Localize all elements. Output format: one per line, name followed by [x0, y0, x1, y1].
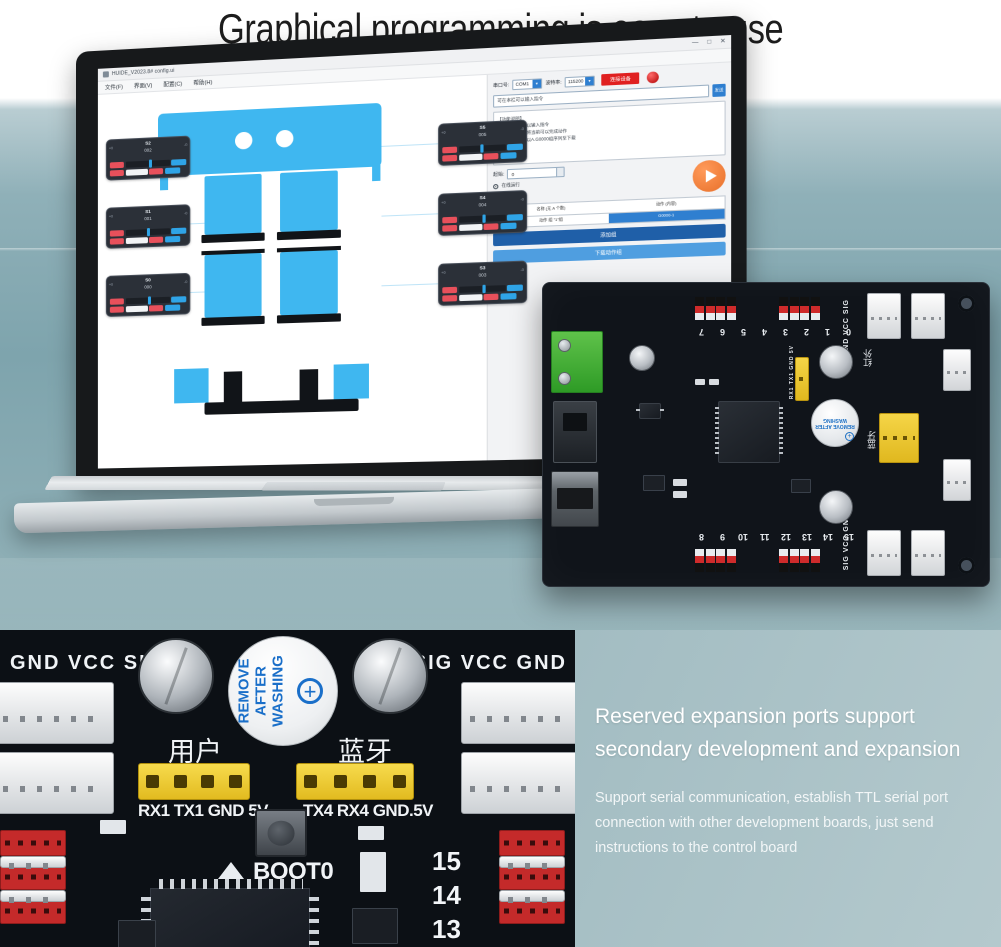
copy-heading: Reserved expansion ports support seconda…	[595, 700, 975, 766]
robot-foot-left	[205, 371, 262, 415]
window-controls: — □ ✕	[692, 38, 726, 46]
servo-pin	[727, 549, 736, 572]
pin-number-4: 4	[762, 327, 767, 337]
smd-ic-closeup-2	[352, 908, 398, 944]
servo-row-bottom	[110, 235, 186, 244]
robot-sole-right	[280, 399, 359, 413]
mcu-pins-right	[309, 897, 319, 947]
servo-row-bottom	[442, 222, 523, 231]
smd-resistor-1	[673, 479, 687, 486]
servo-pin	[800, 549, 809, 572]
robot-thigh-left	[205, 174, 262, 235]
connector-left-top	[0, 682, 114, 744]
servo-inc-button[interactable]	[507, 144, 523, 151]
silk-header-bt-pins: TX4 RX4 GND.5V	[303, 801, 433, 821]
servo-controls	[110, 296, 186, 312]
baud-select[interactable]: 115200 ▾	[565, 75, 595, 87]
robot-thigh-right	[280, 170, 338, 232]
control-board-main: 7 6 5 4 3 2 1 0 8 9 10 11 12 13 14 15	[542, 282, 990, 587]
baud-value: 115200	[568, 78, 583, 84]
robot-shin-left	[205, 253, 262, 318]
sensor-connector-4	[911, 530, 945, 576]
sensor-connector-2	[911, 293, 945, 339]
download-group-button[interactable]: 下载动作组	[493, 242, 726, 264]
app-icon	[103, 71, 109, 77]
servo-header-bank-bottom-left	[695, 549, 736, 572]
servo-inc-button[interactable]	[171, 296, 186, 303]
header-bluetooth-serial	[879, 413, 919, 463]
smd-ic-2	[791, 479, 811, 493]
servo-pin	[800, 297, 809, 320]
servo-header-bank-top-left	[695, 297, 736, 320]
pin-number-5: 5	[741, 327, 746, 337]
start-label: 起始:	[493, 171, 504, 178]
mcu-closeup	[150, 888, 310, 947]
pin-number-2: 2	[804, 327, 809, 337]
robot-ankle-joint-left	[201, 316, 264, 326]
menu-help[interactable]: 帮助(H)	[193, 78, 212, 87]
sensor-connector-1	[867, 293, 901, 339]
servo-slider[interactable]	[459, 285, 506, 293]
connector-right-top	[461, 682, 575, 744]
menu-config[interactable]: 配置(C)	[163, 79, 182, 88]
mcu-chip	[718, 401, 780, 463]
silk-label-ir: 红外	[861, 349, 874, 367]
servo-stop-button[interactable]	[484, 293, 499, 300]
pin-number-9: 9	[720, 532, 725, 542]
header-pads	[146, 770, 242, 793]
servo-stop-button[interactable]	[149, 168, 163, 175]
connect-device-button[interactable]: 连接设备	[601, 72, 639, 85]
stepper-arrows-icon[interactable]	[557, 168, 565, 177]
servo-white-right-1	[499, 856, 565, 868]
command-placeholder: 可在本栏可以输入指令	[497, 96, 543, 104]
servo-pin	[706, 297, 715, 320]
servo-pin	[695, 549, 704, 572]
servo-min: +0	[109, 283, 113, 287]
servo-controls	[442, 284, 523, 301]
servo-slider[interactable]	[459, 215, 506, 223]
port-label: 串口号:	[493, 82, 509, 89]
servo-dec-button[interactable]	[442, 147, 457, 154]
servo-reset-button[interactable]	[110, 169, 124, 176]
mounting-hole-tr	[958, 295, 975, 312]
robot-head	[158, 103, 381, 176]
servo-reset-button[interactable]	[442, 154, 457, 161]
servo-reset-button[interactable]	[110, 306, 124, 312]
servo-white-left-1	[0, 856, 66, 868]
action-table: 名称 (无 A 个数) 动作 (内容) 动作 组 "1"组 G0000-1	[493, 195, 726, 228]
mcu-pins-top	[159, 879, 303, 889]
pin-number-6: 6	[720, 327, 725, 337]
pin-number-10: 10	[738, 532, 748, 542]
port-value: COM1	[515, 81, 529, 87]
baud-label: 波特率:	[545, 79, 561, 86]
boot-button[interactable]	[255, 809, 307, 857]
servo-pin	[811, 297, 820, 320]
servo-widget-s0[interactable]: S0 000 +0 -0	[106, 273, 190, 317]
terminal-screw-top	[558, 339, 571, 352]
servo-pin	[695, 297, 704, 320]
buzzer-polarity-icon: +	[845, 432, 854, 441]
port-select[interactable]: COM1 ▾	[512, 78, 542, 90]
servo-pin	[779, 297, 788, 320]
servo-stop-button[interactable]	[484, 223, 499, 230]
servo-controls	[442, 144, 523, 162]
servo-stop-button[interactable]	[149, 305, 163, 312]
servo-min: +0	[441, 201, 445, 205]
servo-inc-button[interactable]	[171, 159, 186, 166]
servo-min: +0	[109, 214, 113, 218]
servo-pin	[716, 549, 725, 572]
servo-knob[interactable]	[482, 285, 485, 293]
chevron-down-icon[interactable]: ▾	[533, 79, 542, 88]
smd-led-1	[695, 379, 705, 385]
pin-number-3: 3	[783, 327, 788, 337]
servo-header-bank-top-right	[779, 297, 820, 320]
servo-set-button[interactable]	[165, 304, 180, 311]
buzzer-closeup: REMOVEAFTERWASHING +	[228, 636, 338, 746]
servo-set-button[interactable]	[500, 222, 516, 229]
aux-connector	[943, 349, 971, 391]
servo-dec-button[interactable]	[110, 298, 124, 305]
electrolytic-cap-2	[819, 490, 853, 524]
servo-controls	[442, 214, 523, 231]
menu-view[interactable]: 界面(V)	[134, 81, 152, 90]
smd-ic-closeup-1	[118, 920, 156, 947]
robot-ankle-right	[300, 369, 319, 400]
servo-row-bottom	[110, 304, 186, 313]
servo-min: +0	[441, 271, 445, 275]
servo-knob[interactable]	[483, 214, 486, 222]
silk-header-user: RX1 TX1 GND 5V	[789, 345, 795, 399]
servo-set-button[interactable]	[500, 292, 516, 299]
robot-eye-right	[276, 130, 293, 148]
silk-header-user-pins: RX1 TX1 GND 5V	[138, 801, 268, 821]
electrolytic-cap-3	[629, 345, 655, 371]
smd-pad-2	[358, 826, 384, 840]
buzzer-text-closeup: REMOVEAFTERWASHING	[236, 655, 287, 727]
robot-ankle-joint-right	[277, 313, 341, 323]
robot-shin-right	[280, 250, 338, 315]
servo-reset-button[interactable]	[442, 224, 457, 231]
radio-online-label: 在线运行	[502, 182, 520, 189]
smd-led-2	[709, 379, 719, 385]
power-terminal-block	[551, 331, 603, 393]
radio-dot-selected[interactable]	[493, 183, 498, 188]
maximize-button[interactable]: □	[707, 39, 711, 46]
servo-inc-button[interactable]	[171, 228, 186, 235]
close-button[interactable]: ✕	[720, 38, 726, 45]
servo-max: -0	[184, 143, 187, 147]
servo-set-button[interactable]	[165, 235, 180, 242]
servo-field[interactable]	[125, 305, 147, 312]
silk-label-bluetooth: 蓝牙	[865, 431, 878, 449]
header-pads	[304, 770, 406, 793]
servo-controls	[110, 159, 186, 176]
servo-row-bottom	[442, 292, 523, 301]
play-icon[interactable]	[693, 160, 726, 193]
smd-ic-1	[643, 475, 665, 491]
start-stepper[interactable]: 0	[507, 167, 565, 180]
buzzer: REMOVE AFTER WASHING +	[811, 399, 859, 447]
servo-header-red-left-1	[0, 830, 66, 856]
orientation-marker-icon	[218, 862, 244, 879]
instructions-box: 【功能说明】 1、可在本栏可以输入指令 2、单击运行后将当前可以完成动作 3、下…	[493, 101, 726, 166]
servo-pin	[790, 549, 799, 572]
servo-header-bank-bottom-right	[779, 549, 820, 572]
pin-number-11: 11	[760, 532, 770, 542]
robot-foot-right	[280, 369, 338, 413]
header-bluetooth-serial-closeup	[296, 763, 414, 800]
sensor-connector-3	[867, 530, 901, 576]
buzzer-text: REMOVE AFTER WASHING	[812, 417, 858, 429]
connector-left-bottom	[0, 752, 114, 814]
menu-file[interactable]: 文件(F)	[105, 83, 123, 92]
start-value: 0	[512, 171, 514, 176]
servo-controls	[110, 228, 186, 245]
servo-dec-button[interactable]	[110, 230, 124, 237]
copy-body: Support serial communication, establish …	[595, 786, 975, 861]
regulator-chip	[639, 403, 661, 419]
robot-shoulder-right	[372, 162, 380, 181]
robot-footpad-left	[174, 368, 208, 403]
robot-eye-left	[235, 132, 252, 150]
servo-dec-button[interactable]	[442, 287, 457, 294]
pin-label-14: 14	[432, 880, 461, 911]
terminal-screw-bottom	[558, 372, 571, 385]
servo-widget-s2[interactable]: S2 002 +0 -0	[106, 136, 190, 181]
laptop-trackpad	[261, 482, 446, 490]
product-marketing-image: Graphical programming is easy to use HUI…	[0, 0, 1001, 947]
servo-max: -0	[184, 211, 187, 215]
servo-pin	[727, 297, 736, 320]
servo-pin	[811, 549, 820, 572]
servo-field[interactable]	[459, 294, 482, 301]
servo-widget-s4[interactable]: S4 004 +0 -0	[438, 190, 527, 235]
servo-pin	[790, 297, 799, 320]
servo-knob[interactable]	[147, 296, 150, 304]
pin-number-13: 13	[802, 532, 812, 542]
robot-sole-left	[205, 401, 283, 415]
servo-knob[interactable]	[480, 144, 483, 152]
smd-pad-1	[100, 820, 126, 834]
pin-label-15: 15	[432, 846, 461, 877]
servo-max: -0	[521, 197, 524, 201]
electrolytic-capacitor-left	[138, 638, 214, 714]
send-command-button[interactable]: 发送	[712, 84, 725, 97]
run-settings: 起始: 0 在线运行	[493, 160, 726, 201]
robot-canvas: S2 002 +0 -0	[98, 75, 487, 469]
control-board-closeup: GND VCC SIG SIG VCC GND REMOVEAFTERWASHI…	[0, 630, 575, 947]
status-led-icon	[647, 71, 659, 83]
electrolytic-capacitor-right	[352, 638, 428, 714]
robot-ankle-left	[224, 371, 242, 402]
servo-reset-button[interactable]	[110, 238, 124, 245]
servo-field[interactable]	[459, 223, 482, 230]
servo-field[interactable]	[459, 153, 482, 160]
servo-pin	[716, 297, 725, 320]
robot-footpad-right	[334, 364, 369, 400]
window-title: HUIDE_V2023.8# config.ui	[112, 68, 174, 77]
servo-min: +0	[441, 131, 445, 135]
minimize-button[interactable]: —	[692, 40, 699, 47]
electrolytic-cap-1	[819, 345, 853, 379]
chevron-down-icon[interactable]: ▾	[585, 76, 594, 85]
servo-inc-button[interactable]	[507, 284, 523, 291]
servo-min: +0	[109, 146, 113, 150]
silk-sig-vcc-gnd-right: SIG VCC GND	[413, 652, 567, 675]
servo-set-button[interactable]	[500, 152, 516, 159]
servo-stop-button[interactable]	[484, 152, 499, 159]
robot-leg-left	[205, 174, 262, 415]
power-switch[interactable]	[553, 401, 597, 463]
servo-field[interactable]	[125, 237, 147, 244]
servo-reset-button[interactable]	[442, 295, 457, 302]
servo-header-red-right-1	[499, 830, 565, 856]
robot-leg-right	[280, 170, 338, 412]
servo-inc-button[interactable]	[507, 214, 523, 221]
servo-dec-button[interactable]	[442, 217, 457, 224]
copy-block: Reserved expansion ports support seconda…	[595, 700, 975, 861]
smd-resistor-2	[673, 491, 687, 498]
servo-pin	[706, 549, 715, 572]
servo-slider[interactable]	[125, 228, 169, 236]
servo-widget-s3[interactable]: S3 003 +0 -0	[438, 260, 527, 305]
servo-max: -0	[521, 127, 524, 131]
servo-pin	[779, 549, 788, 572]
servo-max: -0	[521, 268, 524, 272]
header-user-serial	[795, 357, 809, 401]
pin-number-12: 12	[781, 532, 791, 542]
servo-field[interactable]	[125, 168, 147, 175]
servo-knob[interactable]	[147, 228, 150, 236]
mounting-hole-br	[958, 557, 975, 574]
pin-number-14: 14	[823, 532, 833, 542]
usb-connector	[551, 471, 599, 527]
pin-number-8: 8	[699, 532, 704, 542]
ir-connector	[943, 459, 971, 501]
servo-slider[interactable]	[125, 297, 169, 305]
pin-number-1: 1	[825, 327, 830, 337]
connector-right-bottom	[461, 752, 575, 814]
header-user-serial-closeup	[138, 763, 250, 800]
smd-pad-3	[360, 852, 386, 892]
servo-knob[interactable]	[149, 160, 152, 168]
pin-number-7: 7	[699, 327, 704, 337]
servo-widget-s1[interactable]: S1 001 +0 -0	[106, 204, 190, 248]
servo-white-left-2	[0, 890, 66, 902]
servo-widget-s5[interactable]: S5 005 +0 -0	[438, 120, 527, 166]
servo-white-right-2	[499, 890, 565, 902]
servo-set-button[interactable]	[165, 167, 180, 174]
servo-stop-button[interactable]	[149, 236, 163, 243]
servo-max: -0	[184, 280, 187, 284]
servo-dec-button[interactable]	[110, 162, 124, 169]
buzzer-polarity-icon: +	[297, 678, 323, 704]
pin-label-13: 13	[432, 914, 461, 945]
